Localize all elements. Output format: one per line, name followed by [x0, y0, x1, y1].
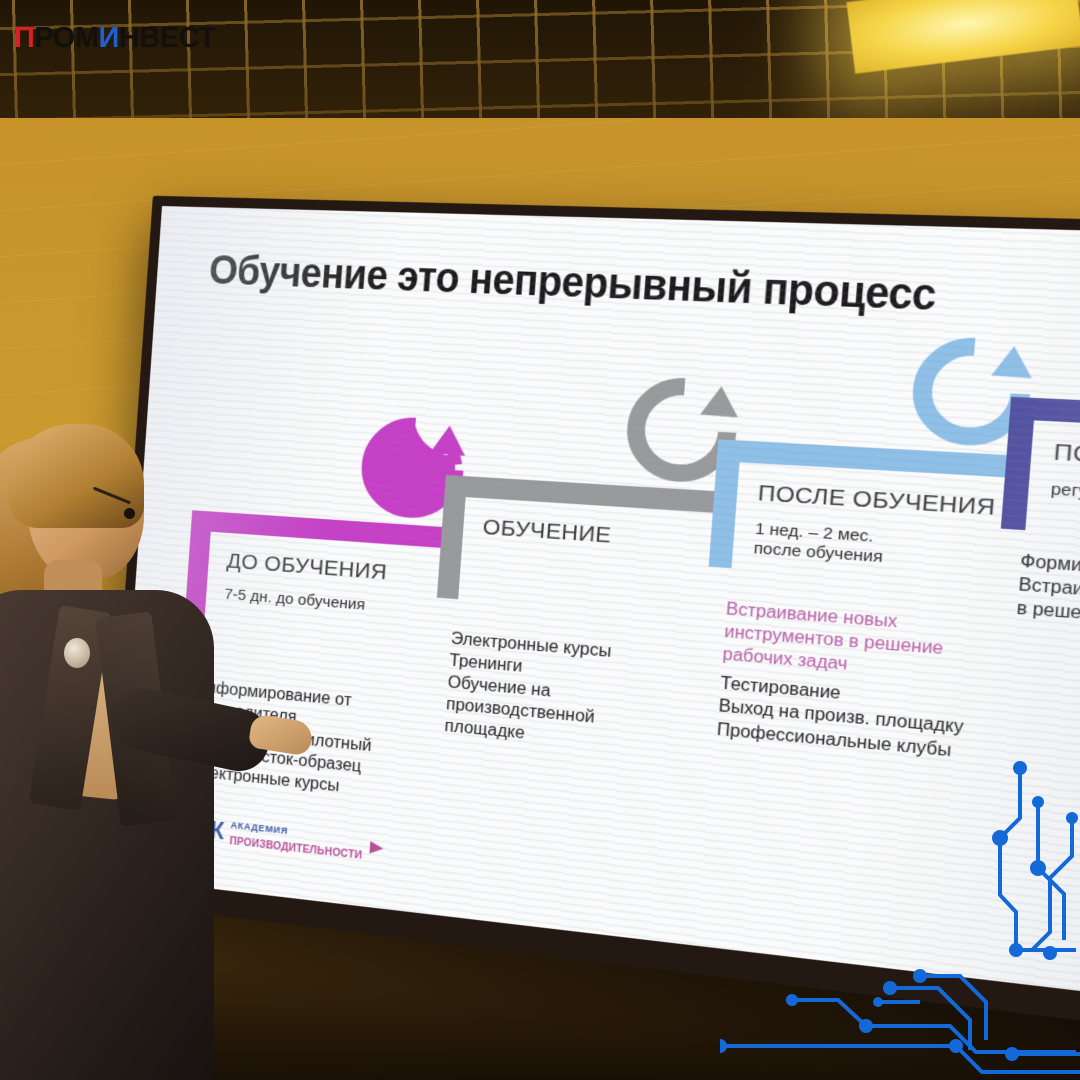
- stage-title: ПОСЛЕ ОБУЧЕНИЯ: [757, 481, 1038, 524]
- stage-bracket: ОБУЧЕНИЕ: [436, 475, 727, 630]
- stage-title: ОБУЧЕНИЕ: [482, 515, 744, 558]
- arrow-right-icon: [370, 841, 384, 855]
- slide-title: Обучение это непрерывный процесс: [208, 248, 1080, 328]
- stage-bullets-wrap: Встраивание новых инструментов в решение…: [716, 592, 1038, 770]
- photo-scene: Обучение это непрерывный процесс: [0, 0, 1080, 1080]
- stage-timing: 7-5 дн. до обучения: [224, 586, 468, 624]
- circuit-decoration: [720, 750, 1080, 1080]
- brand-part-rom: РОМ: [34, 24, 98, 53]
- stage-timing: регулярно: [1050, 480, 1080, 518]
- presenter-brooch: [64, 638, 90, 668]
- stage-timing: [481, 553, 741, 571]
- brand-letter-i: И: [99, 24, 119, 53]
- brand-letter-p: П: [14, 24, 34, 53]
- presenter-person: [0, 432, 252, 1080]
- stage-bracket: ПОДДЕРЖКА регулярно: [1000, 397, 1080, 561]
- stage-title: ДО ОБУЧЕНИЯ: [226, 549, 470, 592]
- brand-watermark: ПРОМИНВЕСТ: [14, 24, 216, 53]
- brand-part-nvest: НВЕСТ: [119, 24, 216, 53]
- stage-posle-obucheniya: ПОСЛЕ ОБУЧЕНИЯ 1 нед. – 2 мес. после обу…: [708, 439, 1020, 598]
- stage-bullets-wrap: Электронные курсы Тренинги Обучение на п…: [444, 622, 742, 765]
- stage-title: ПОДДЕРЖКА: [1053, 439, 1080, 482]
- microphone-icon: [124, 508, 135, 519]
- stage-obuchenie: ОБУЧЕНИЕ Электронные курсы Тренинги Обуч…: [436, 475, 727, 630]
- stage-podderzhka: ПОДДЕРЖКА регулярно Формирование обучающ…: [1000, 397, 1080, 561]
- stage-card: ПОДДЕРЖКА регулярно: [1034, 427, 1080, 527]
- stage-bullets: Электронные курсы Тренинги Обучение на п…: [444, 628, 742, 765]
- stage-timing: 1 нед. – 2 мес. после обучения: [753, 520, 1035, 579]
- stage-bracket: ПОСЛЕ ОБУЧЕНИЯ 1 нед. – 2 мес. после обу…: [708, 439, 1020, 598]
